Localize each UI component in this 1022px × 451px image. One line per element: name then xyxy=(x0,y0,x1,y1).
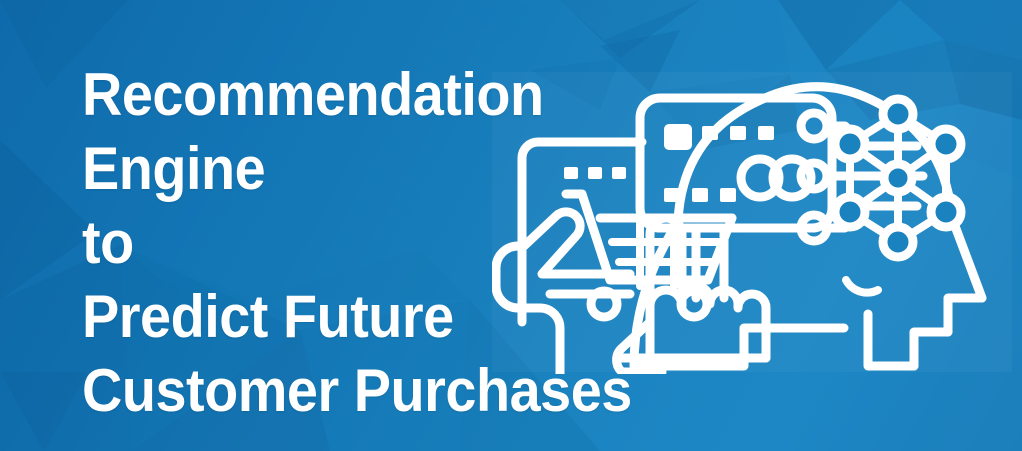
ecommerce-ai-recommendation-illustration xyxy=(492,72,1022,374)
phone-dots-row xyxy=(564,167,626,179)
recommendation-engine-banner: Recommendation Engine to Predict Future … xyxy=(0,0,1022,451)
neural-network-node-icon xyxy=(835,99,961,257)
